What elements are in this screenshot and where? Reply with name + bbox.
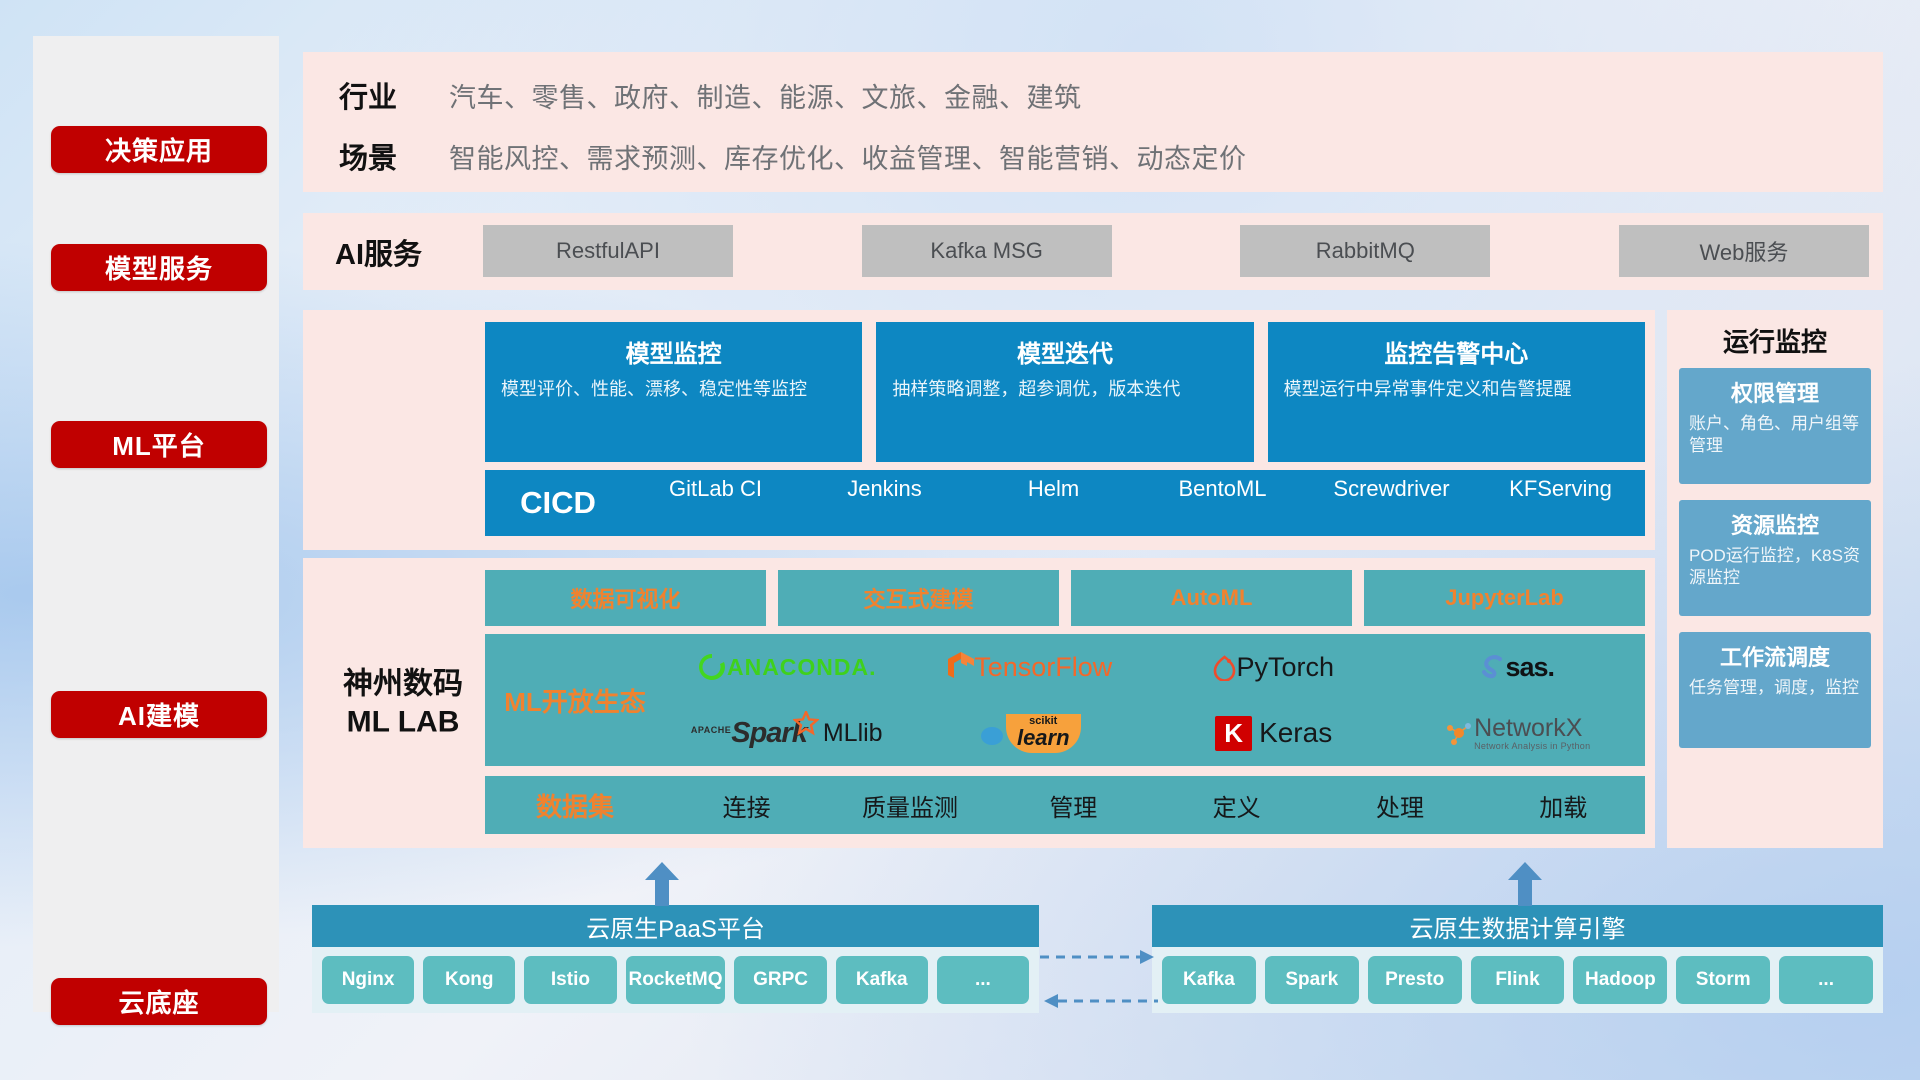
scikit-learn-logo: scikitlearn [980,714,1081,753]
dataset-tag: 数据集 [485,787,665,824]
cicd-row: CICD GitLab CIJenkinsHelmBentoMLScrewdri… [485,470,1645,536]
mlops-card[interactable]: 监控告警中心模型运行中异常事件定义和告警提醒 [1268,322,1645,462]
ai-modeling-panel: 神州数码 ML LAB 数据可视化交互式建模AutoMLJupyterLab M… [303,558,1655,848]
monitoring-card[interactable]: 资源监控POD运行监控，K8S资源监控 [1679,500,1871,616]
mlops-panel: MLOps 模型监控模型评价、性能、漂移、稳定性等监控模型迭代抽样策略调整，超参… [303,310,1655,550]
mlops-card[interactable]: 模型迭代抽样策略调整，超参调优，版本迭代 [876,322,1253,462]
keras-wordmark: Keras [1259,717,1332,749]
paas-chip-list: NginxKongIstioRocketMQGRPCKafka... [312,947,1039,1013]
sidebar-layer-label: ML平台 [112,426,206,463]
paas-platform-title: 云原生PaaS平台 [312,905,1039,947]
data-engine-title: 云原生数据计算引擎 [1152,905,1883,947]
ai-service-chip[interactable]: RestfulAPI [483,225,733,277]
networkx-wordmark: NetworkX [1474,716,1590,741]
monitoring-card-title: 工作流调度 [1689,640,1861,672]
paas-chip[interactable]: ... [937,956,1029,1004]
paas-chip[interactable]: GRPC [734,956,826,1004]
scenario-value: 智能风控、需求预测、库存优化、收益管理、智能营销、动态定价 [449,137,1247,176]
dataset-item-list: 连接质量监测管理定义处理加载 [665,788,1645,823]
architecture-diagram: 决策应用模型服务ML平台AI建模云底座 行业 汽车、零售、政府、制造、能源、文旅… [0,0,1920,1080]
data-engine-chip[interactable]: Flink [1471,956,1565,1004]
mlops-card-desc: 模型运行中异常事件定义和告警提醒 [1284,378,1629,402]
sidebar-layer-2[interactable]: 模型服务 [51,244,267,291]
spark-icon: APACHESpark [691,717,819,750]
ml-ecosystem-row: ML开放生态 ANACONDA.TensorFlowPyTorchsas.APA… [485,634,1645,766]
dataset-row: 数据集 连接质量监测管理定义处理加载 [485,776,1645,834]
sas-logo: sas. [1480,652,1554,683]
paas-chip[interactable]: Istio [524,956,616,1004]
anaconda-wordmark: ANACONDA. [727,654,877,681]
sidebar-layer-label: 云底座 [118,983,199,1020]
sidebar-layer-label: 模型服务 [105,249,213,286]
ml-lab-label-line2: ML LAB [343,703,463,741]
dashed-arrow-left-icon [1040,992,1158,1010]
data-engine-chip[interactable]: Kafka [1162,956,1256,1004]
pytorch-icon [1213,654,1236,681]
pytorch-logo: PyTorch [1213,652,1334,683]
industry-value: 汽车、零售、政府、制造、能源、文旅、金融、建筑 [449,76,1082,115]
paas-chip[interactable]: Kafka [836,956,928,1004]
ai-service-label: AI服务 [335,231,422,273]
cicd-tool[interactable]: GitLab CI [631,474,800,532]
monitoring-card-desc: 账户、角色、用户组等管理 [1689,413,1861,457]
monitoring-card[interactable]: 工作流调度任务管理，调度，监控 [1679,632,1871,748]
keras-logo: KKeras [1215,716,1332,751]
tensorflow-icon [948,652,974,682]
ml-lab-label: 神州数码 ML LAB [343,666,463,741]
dashed-arrow-right-icon [1040,948,1158,966]
monitoring-card-desc: 任务管理，调度，监控 [1689,677,1861,699]
up-arrow-icon-right [1508,862,1542,898]
data-engine-block: 云原生数据计算引擎 KafkaSparkPrestoFlinkHadoopSto… [1152,905,1883,1013]
sidebar-layer-label: 决策应用 [105,131,213,168]
cicd-tag: CICD [485,485,631,521]
modeling-feature-list: 数据可视化交互式建模AutoMLJupyterLab [485,570,1645,626]
industry-key: 行业 [339,74,449,116]
tensorflow-wordmark: TensorFlow [974,652,1112,683]
cicd-tool[interactable]: Helm [969,474,1138,532]
up-arrow-icon-left [645,862,679,898]
runtime-monitoring-panel: 运行监控 权限管理账户、角色、用户组等管理资源监控POD运行监控，K8S资源监控… [1667,310,1883,848]
paas-platform-block: 云原生PaaS平台 NginxKongIstioRocketMQGRPCKafk… [312,905,1039,1013]
scenario-row: 场景 智能风控、需求预测、库存优化、收益管理、智能营销、动态定价 [339,135,1247,177]
mlops-card-title: 模型监控 [501,334,846,369]
dataset-item[interactable]: 连接 [665,788,828,823]
sidebar-layer-1[interactable]: 决策应用 [51,126,267,173]
data-engine-chip[interactable]: Storm [1676,956,1770,1004]
networkx-text: NetworkXNetwork Analysis in Python [1474,716,1590,751]
monitoring-card-desc: POD运行监控，K8S资源监控 [1689,545,1861,589]
mlops-card-list: 模型监控模型评价、性能、漂移、稳定性等监控模型迭代抽样策略调整，超参调优，版本迭… [485,322,1645,462]
data-engine-chip[interactable]: Presto [1368,956,1462,1004]
data-engine-chip[interactable]: ... [1779,956,1873,1004]
paas-chip[interactable]: Nginx [322,956,414,1004]
ai-service-chip[interactable]: Web服务 [1619,225,1869,277]
sidebar-layer-3[interactable]: ML平台 [51,421,267,468]
anaconda-logo: ANACONDA. [697,652,877,682]
apache-wordmark: APACHE [691,725,731,735]
modeling-feature[interactable]: AutoML [1071,570,1352,626]
spark-mllib-logo: APACHESparkMLlib [691,717,883,750]
cicd-tool[interactable]: Screwdriver [1307,474,1476,532]
sas-wordmark: sas. [1505,652,1554,683]
dataset-item[interactable]: 管理 [992,788,1155,823]
dataset-item[interactable]: 质量监测 [828,788,991,823]
mlops-card-title: 模型迭代 [892,334,1237,369]
cicd-tool[interactable]: Jenkins [800,474,969,532]
cicd-tool[interactable]: BentoML [1138,474,1307,532]
sidebar-layer-5[interactable]: 云底座 [51,978,267,1025]
ml-ecosystem-logo-grid: ANACONDA.TensorFlowPyTorchsas.APACHESpar… [665,634,1645,766]
modeling-feature[interactable]: 交互式建模 [778,570,1059,626]
data-engine-chip[interactable]: Hadoop [1573,956,1667,1004]
tensorflow-logo: TensorFlow [948,652,1112,683]
monitoring-card-title: 资源监控 [1689,508,1861,540]
ai-service-chip[interactable]: RabbitMQ [1240,225,1490,277]
sas-icon [1480,654,1505,681]
sidebar-layer-label: AI建模 [118,696,200,733]
data-engine-chip[interactable]: Spark [1265,956,1359,1004]
networkx-tagline: Network Analysis in Python [1474,741,1590,751]
ai-service-chip[interactable]: Kafka MSG [862,225,1112,277]
ml-ecosystem-tag: ML开放生态 [485,682,665,719]
data-engine-chip-list: KafkaSparkPrestoFlinkHadoopStorm... [1152,947,1883,1013]
layer-rail: 决策应用模型服务ML平台AI建模云底座 [33,36,279,1012]
pytorch-wordmark: PyTorch [1236,652,1334,683]
mlops-card-desc: 抽样策略调整，超参调优，版本迭代 [892,378,1237,402]
networkx-logo: NetworkXNetwork Analysis in Python [1444,716,1590,751]
industry-scenario-panel: 行业 汽车、零售、政府、制造、能源、文旅、金融、建筑 场景 智能风控、需求预测、… [303,52,1883,192]
ai-service-panel: AI服务 RestfulAPIKafka MSGRabbitMQWeb服务 [303,213,1883,290]
ml-lab-label-line1: 神州数码 [343,666,463,704]
modeling-feature[interactable]: JupyterLab [1364,570,1645,626]
ai-service-chip-list: RestfulAPIKafka MSGRabbitMQWeb服务 [483,225,1869,277]
modeling-feature[interactable]: 数据可视化 [485,570,766,626]
mlops-card-desc: 模型评价、性能、漂移、稳定性等监控 [501,378,846,402]
sidebar-layer-4[interactable]: AI建模 [51,691,267,738]
scikit-learn-badge: scikitlearn [1006,714,1081,753]
scenario-key: 场景 [339,135,449,177]
keras-icon: K [1215,716,1252,751]
monitoring-card[interactable]: 权限管理账户、角色、用户组等管理 [1679,368,1871,484]
monitoring-card-title: 权限管理 [1689,376,1861,408]
mlops-card[interactable]: 模型监控模型评价、性能、漂移、稳定性等监控 [485,322,862,462]
dataset-item[interactable]: 加载 [1482,788,1645,823]
cicd-tool-list: GitLab CIJenkinsHelmBentoMLScrewdriverKF… [631,474,1645,532]
paas-chip[interactable]: Kong [423,956,515,1004]
networkx-icon [1444,720,1474,746]
dataset-item[interactable]: 处理 [1318,788,1481,823]
mlops-card-title: 监控告警中心 [1284,334,1629,369]
anaconda-icon [697,652,727,682]
paas-chip[interactable]: RocketMQ [626,956,726,1004]
learn-wordmark: learn [1017,727,1070,749]
industry-row: 行业 汽车、零售、政府、制造、能源、文旅、金融、建筑 [339,74,1082,116]
mllib-wordmark: MLlib [823,719,883,748]
cicd-tool[interactable]: KFServing [1476,474,1645,532]
dataset-item[interactable]: 定义 [1155,788,1318,823]
runtime-monitoring-title: 运行监控 [1667,322,1883,359]
